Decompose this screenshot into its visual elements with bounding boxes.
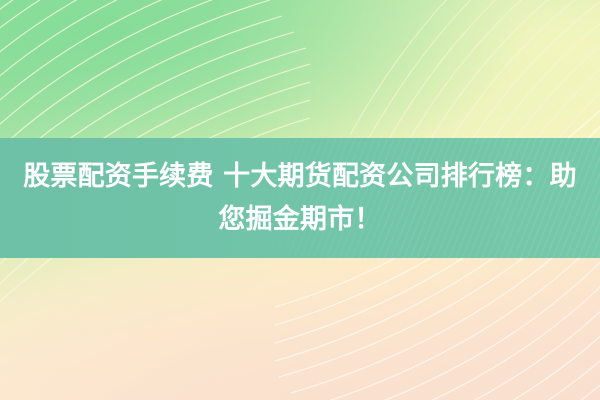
headline-text: 股票配资手续费 十大期货配资公司排行榜：助您掘金期市！ [17, 155, 583, 241]
headline-banner: 股票配资手续费 十大期货配资公司排行榜：助您掘金期市！ [0, 138, 600, 258]
banner-image: 股票配资手续费 十大期货配资公司排行榜：助您掘金期市！ [0, 0, 600, 400]
